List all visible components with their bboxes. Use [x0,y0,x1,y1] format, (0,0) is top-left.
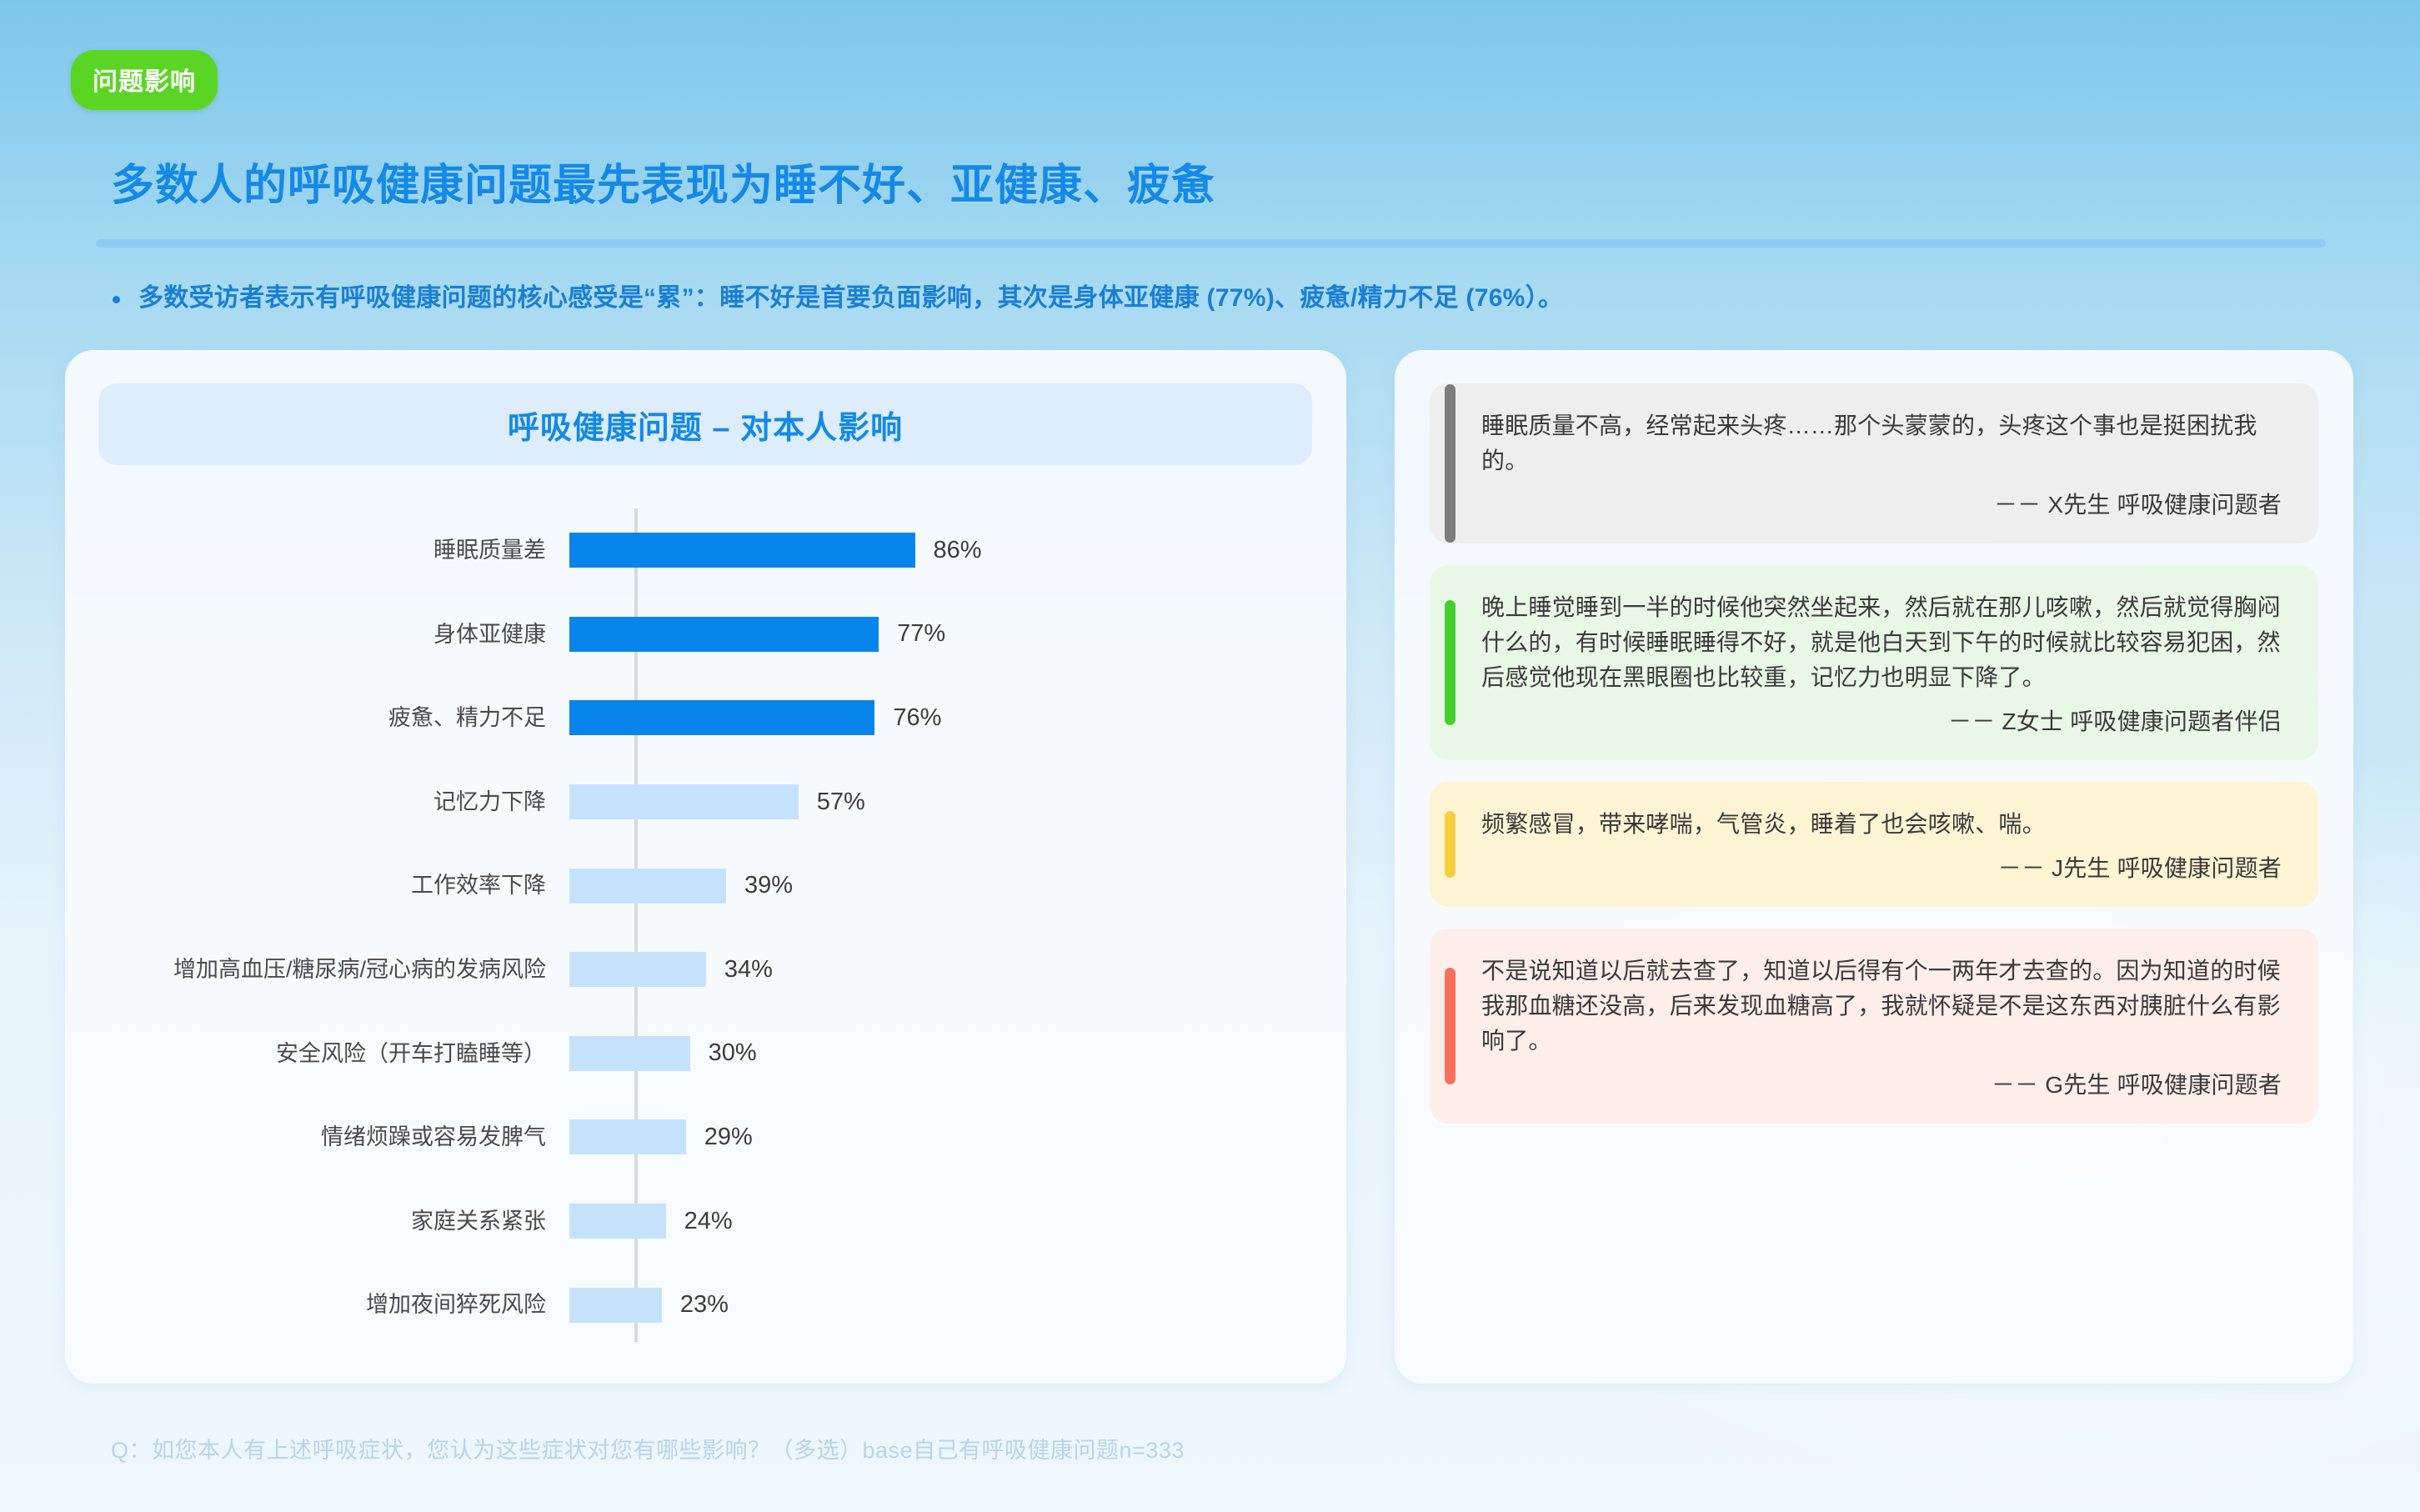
bar-track: 86% [569,508,1346,593]
quote-card: 频繁感冒，带来哮喘，气管炎，睡着了也会咳嗽、喘。－－ J先生 呼吸健康问题者 [1430,782,2318,907]
bar-value-label: 76% [893,704,941,732]
bar-row: 增加高血压/糖尿病/冠心病的发病风险34% [65,928,1346,1012]
summary-bullet: 多数受访者表示有呼吸健康问题的核心感受是“累”：睡不好是首要负面影响，其次是身体… [113,282,1563,314]
bar-category-label: 工作效率下降 [65,872,569,899]
summary-bullet-text: 多数受访者表示有呼吸健康问题的核心感受是“累”：睡不好是首要负面影响，其次是身体… [138,282,1563,314]
bar-category-label: 增加高血压/糖尿病/冠心病的发病风险 [65,956,569,983]
quote-card: 睡眠质量不高，经常起来头疼……那个头蒙蒙的，头疼这个事也是挺困扰我的。－－ X先… [1430,383,2318,543]
bar-value-label: 24% [684,1208,733,1235]
quote-accent-bar [1445,600,1456,725]
quote-card: 不是说知道以后就去查了，知道以后得有个一两年才去查的。因为知道的时候我那血糖还没… [1430,929,2318,1124]
quote-attribution: －－ G先生 呼吸健康问题者 [1481,1067,2282,1100]
chart-title-box: 呼吸健康问题 – 对本人影响 [98,383,1312,465]
bar-row: 工作效率下降39% [65,844,1346,928]
bar-row: 睡眠质量差86% [65,508,1346,593]
bar-track: 39% [569,844,1346,928]
bar-value-label: 23% [680,1291,729,1319]
bar-category-label: 情绪烦躁或容易发脾气 [65,1124,569,1150]
bar-track: 29% [569,1095,1346,1179]
header-divider [96,239,2326,248]
chart-title: 呼吸健康问题 – 对本人影响 [508,402,903,448]
bar-track: 24% [569,1179,1346,1264]
bar-row: 安全风险（开车打瞌睡等）30% [65,1012,1346,1096]
quote-accent-bar [1445,968,1456,1084]
quotes-list: 睡眠质量不高，经常起来头疼……那个头蒙蒙的，头疼这个事也是挺困扰我的。－－ X先… [1395,350,2353,1384]
section-badge: 问题影响 [71,50,218,110]
bullet-dot-icon [113,296,120,303]
chart-panel: 呼吸健康问题 – 对本人影响 睡眠质量差86%身体亚健康77%疲惫、精力不足76… [65,350,1346,1384]
bar-fill [569,533,915,568]
bar-value-label: 86% [934,537,982,564]
bar-row: 身体亚健康77% [65,593,1346,677]
bar-category-label: 身体亚健康 [65,621,569,648]
bar-track: 30% [569,1012,1346,1096]
bar-fill [569,869,726,904]
quote-card: 晚上睡觉睡到一半的时候他突然坐起来，然后就在那儿咳嗽，然后就觉得胸闷什么的，有时… [1430,565,2318,760]
bar-category-label: 安全风险（开车打瞌睡等） [65,1040,569,1067]
bar-value-label: 57% [817,789,865,816]
bar-fill [569,952,706,987]
bar-row: 增加夜间猝死风险23% [65,1263,1346,1347]
bar-row: 疲惫、精力不足76% [65,676,1346,760]
quote-text: 不是说知道以后就去查了，知道以后得有个一两年才去查的。因为知道的时候我那血糖还没… [1481,954,2282,1059]
bar-value-label: 77% [897,620,945,648]
quote-text: 睡眠质量不高，经常起来头疼……那个头蒙蒙的，头疼这个事也是挺困扰我的。 [1481,408,2282,478]
bar-track: 76% [569,676,1346,760]
quote-accent-bar [1445,384,1456,543]
bar-track: 34% [569,928,1346,1012]
quote-attribution: －－ X先生 呼吸健康问题者 [1481,487,2282,520]
bar-value-label: 39% [744,872,793,899]
bar-fill [569,617,879,652]
bar-category-label: 疲惫、精力不足 [65,704,569,731]
quote-text: 频繁感冒，带来哮喘，气管炎，睡着了也会咳嗽、喘。 [1481,807,2282,842]
bar-category-label: 记忆力下降 [65,789,569,815]
bar-category-label: 睡眠质量差 [65,537,569,563]
page-title: 多数人的呼吸健康问题最先表现为睡不好、亚健康、疲惫 [111,150,1215,213]
quote-accent-bar [1445,811,1456,878]
bar-track: 77% [569,593,1346,677]
bar-track: 23% [569,1263,1346,1347]
bar-track: 57% [569,760,1346,844]
bar-fill [569,1036,690,1071]
bar-category-label: 家庭关系紧张 [65,1208,569,1234]
bar-row: 情绪烦躁或容易发脾气29% [65,1095,1346,1179]
bar-fill [569,1204,666,1239]
bar-value-label: 34% [724,956,773,984]
bar-value-label: 29% [704,1124,753,1151]
bar-fill [569,1119,686,1154]
footer-question: Q：如您本人有上述呼吸症状，您认为这些症状对您有哪些影响？（多选）base自己有… [111,1432,1185,1464]
bar-fill [569,1288,662,1323]
quote-attribution: －－ J先生 呼吸健康问题者 [1481,850,2282,884]
bar-fill [569,784,799,819]
bar-chart: 睡眠质量差86%身体亚健康77%疲惫、精力不足76%记忆力下降57%工作效率下降… [65,508,1346,1350]
quote-attribution: －－ Z女士 呼吸健康问题者伴侣 [1481,703,2282,737]
bar-fill [569,700,874,735]
bar-value-label: 30% [709,1039,757,1067]
bar-category-label: 增加夜间猝死风险 [65,1291,569,1318]
quote-text: 晚上睡觉睡到一半的时候他突然坐起来，然后就在那儿咳嗽，然后就觉得胸闷什么的，有时… [1481,590,2282,695]
bar-row: 记忆力下降57% [65,760,1346,844]
bar-row: 家庭关系紧张24% [65,1179,1346,1264]
